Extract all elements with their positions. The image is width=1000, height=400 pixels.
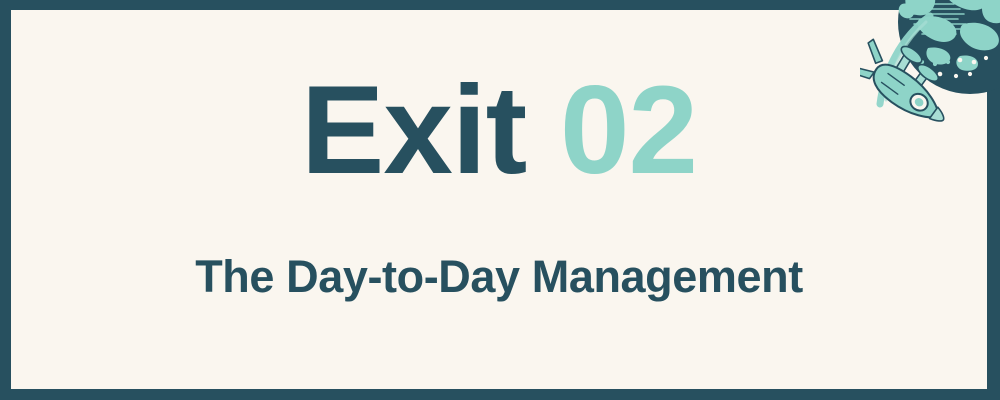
title-section-number: 02 [560, 61, 697, 200]
slide-subtitle: The Day-to-Day Management [11, 254, 987, 299]
title-main-word: Exit [301, 61, 526, 200]
slide-text-block: Exit 02 The Day-to-Day Management [11, 10, 987, 389]
slide-title: Exit 02 [11, 68, 987, 193]
slide-canvas: Exit 02 The Day-to-Day Management [11, 10, 987, 389]
slide-root: Exit 02 The Day-to-Day Management [0, 0, 1000, 400]
